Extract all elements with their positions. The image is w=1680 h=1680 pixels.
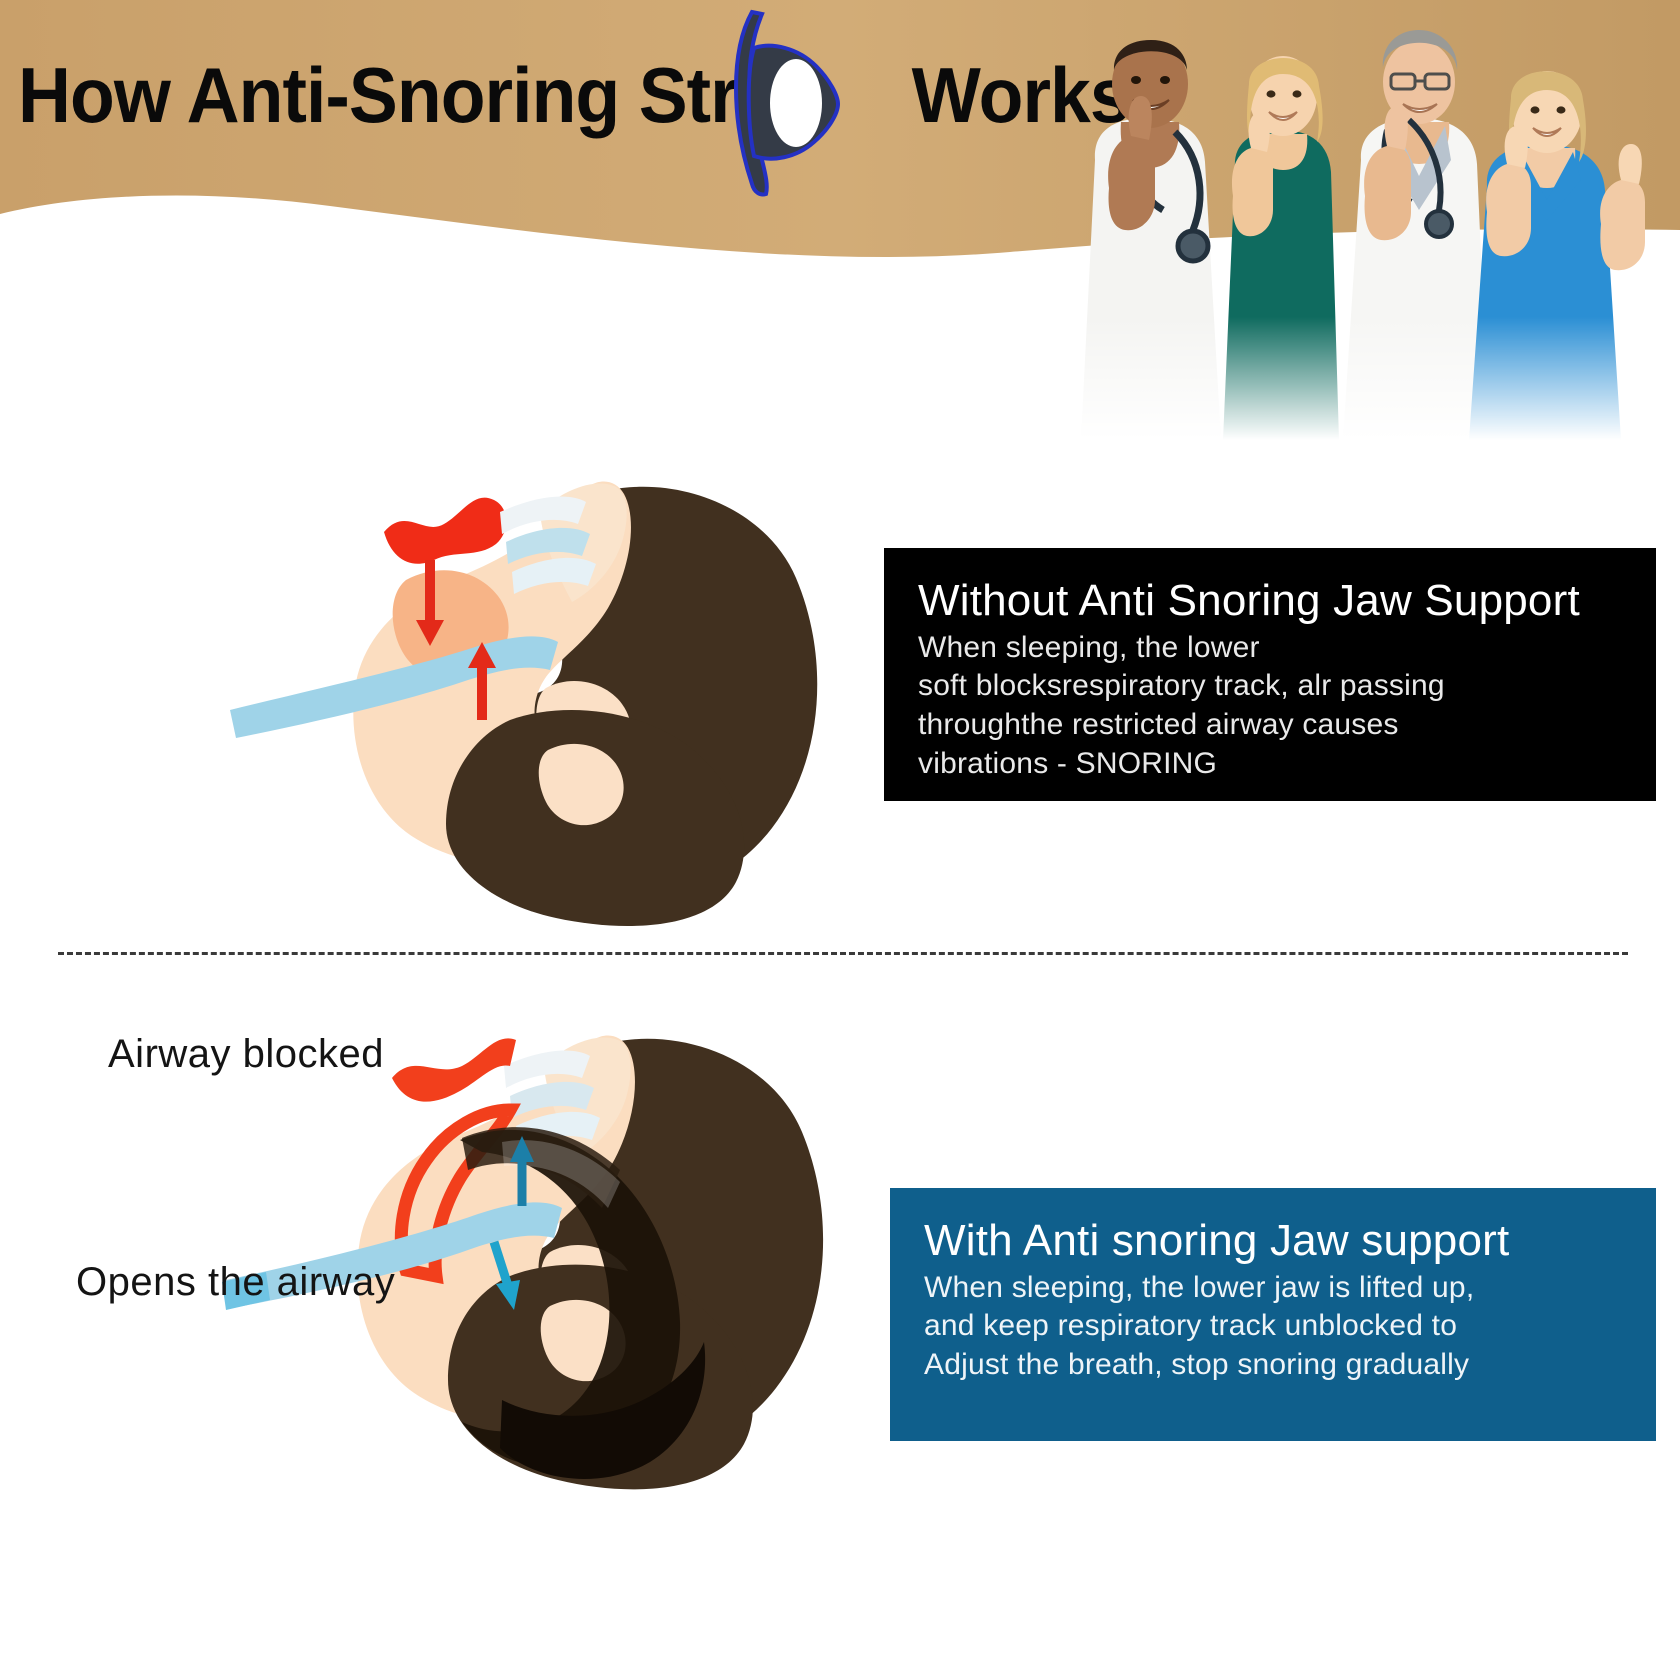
sleeping-head-cross-section-open-airway-with-strap bbox=[210, 970, 890, 1530]
body-line: vibrations - SNORING bbox=[918, 745, 1622, 784]
four-medical-professionals-thumbs-up-photo bbox=[1035, 0, 1680, 440]
without-support-info-card: Without Anti Snoring Jaw Support When sl… bbox=[884, 548, 1656, 801]
section-divider bbox=[58, 952, 1628, 955]
with-support-info-card: With Anti snoring Jaw support When sleep… bbox=[890, 1188, 1656, 1441]
body-line: When sleeping, the lower jaw is lifted u… bbox=[924, 1269, 1622, 1308]
body-line: When sleeping, the lower bbox=[918, 629, 1622, 668]
with-support-heading: With Anti snoring Jaw support bbox=[924, 1218, 1622, 1265]
body-line: and keep respiratory track unblocked to bbox=[924, 1307, 1622, 1346]
page-title: How Anti-Snoring StrapWorks bbox=[18, 50, 1130, 141]
without-support-heading: Without Anti Snoring Jaw Support bbox=[918, 578, 1622, 625]
sleeping-head-cross-section-blocked-airway bbox=[210, 420, 870, 940]
body-line: throughthe restricted airway causes bbox=[918, 706, 1622, 745]
without-support-body: When sleeping, the lower soft blocksresp… bbox=[918, 629, 1622, 784]
anti-snoring-strap-logo-icon bbox=[690, 8, 850, 198]
opens-the-airway-label: Opens the airway bbox=[76, 1260, 395, 1305]
with-support-body: When sleeping, the lower jaw is lifted u… bbox=[924, 1269, 1622, 1385]
body-line: soft blocksrespiratory track, alr passin… bbox=[918, 667, 1622, 706]
body-line: Adjust the breath, stop snoring graduall… bbox=[924, 1346, 1622, 1385]
